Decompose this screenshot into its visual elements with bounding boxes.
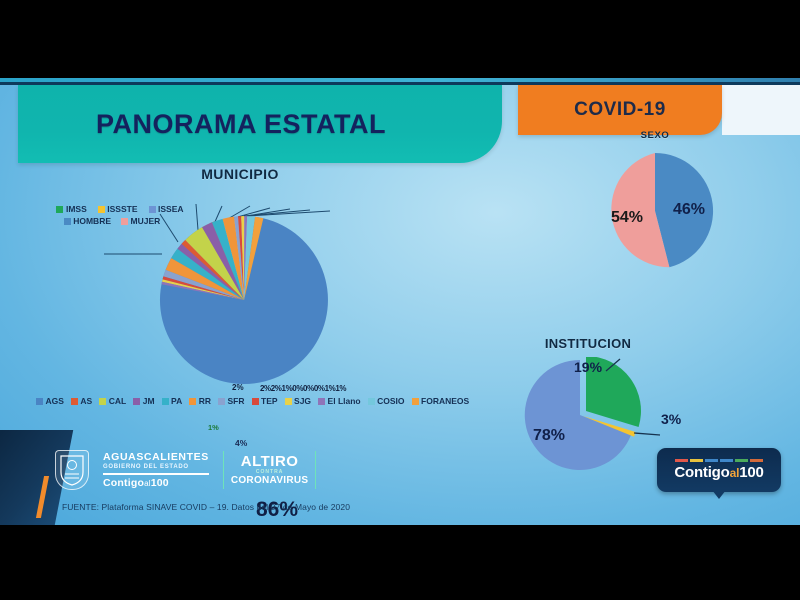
municipio-legend-swatch-icon — [71, 398, 78, 405]
municipio-legend-item[interactable]: El Llano — [318, 396, 361, 406]
institucion-legend-item[interactable]: IMSS — [56, 204, 86, 214]
municipio-legend-label: RR — [199, 396, 211, 406]
sexo-pie-wrap: 46% 54% — [560, 149, 750, 279]
municipio-legend-label: PA — [171, 396, 182, 406]
page-title: PANORAMA ESTATAL — [96, 109, 386, 140]
sexo-legend: HOMBREMUJER — [32, 216, 192, 226]
municipio-label-1pct: 1% — [208, 423, 219, 432]
institucion-pie-svg — [508, 357, 668, 477]
badge-text: Contigoal100 — [674, 464, 763, 481]
sexo-legend-swatch-icon — [64, 218, 71, 225]
badge-100: 100 — [739, 464, 763, 481]
screenshot-frame: PANORAMA ESTATAL COVID-19 MUNICIPIO — [0, 0, 800, 600]
municipio-legend-label: AGS — [46, 396, 64, 406]
municipio-legend-swatch-icon — [99, 398, 106, 405]
municipio-title: MUNICIPIO — [30, 166, 450, 182]
municipio-pie-svg — [30, 182, 450, 397]
institucion-label-imss-pct: 19% — [574, 359, 602, 375]
municipio-legend-item[interactable]: RR — [189, 396, 211, 406]
institucion-legend-swatch-icon — [98, 206, 105, 213]
sexo-legend-label: HOMBRE — [73, 216, 111, 226]
badge-tail — [712, 490, 726, 499]
chart-sexo: SEXO 46% 54% — [560, 130, 750, 279]
municipio-legend-swatch-icon — [189, 398, 196, 405]
municipio-legend-swatch-icon — [368, 398, 375, 405]
footer-logos: AGUASCALIENTES GOBIERNO DEL ESTADO Conti… — [55, 450, 316, 490]
municipio-legend-label: JM — [143, 396, 155, 406]
badge-bar-blue2 — [720, 459, 733, 462]
municipio-legend-item[interactable]: PA — [162, 396, 183, 406]
municipio-legend-label: AS — [80, 396, 92, 406]
institucion-title: INSTITUCION — [478, 336, 698, 351]
sexo-legend-swatch-icon — [121, 218, 128, 225]
altiro-logo: ALTIRO CONTRA CORONAVIRUS — [223, 451, 317, 489]
municipio-legend-item[interactable]: CAL — [99, 396, 126, 406]
gov-logo-al: al — [144, 479, 151, 488]
covid-badge-panel: COVID-19 — [518, 85, 722, 135]
municipio-legend-swatch-icon — [36, 398, 43, 405]
municipio-legend-item[interactable]: COSIO — [368, 396, 405, 406]
sexo-legend-item[interactable]: MUJER — [121, 216, 160, 226]
gov-logo-100: 100 — [151, 477, 169, 489]
sexo-title: SEXO — [560, 130, 750, 141]
gov-logo-line3: Contigoal100 — [103, 477, 209, 489]
municipio-label-row: 2%2%1%0%0%0%1%1% — [260, 384, 346, 393]
shield-glyph — [59, 454, 85, 486]
sexo-label-mujer-pct: 54% — [611, 209, 643, 227]
municipio-legend-item[interactable]: AGS — [36, 396, 64, 406]
contigo-al-100-badge: Contigoal100 — [657, 448, 781, 492]
badge-color-bars — [675, 459, 763, 462]
badge-al: al — [730, 466, 740, 480]
municipio-legend-label: COSIO — [377, 396, 404, 406]
municipio-legend-swatch-icon — [162, 398, 169, 405]
altiro-line3: CORONAVIRUS — [231, 475, 309, 486]
municipio-legend-item[interactable]: FORANEOS — [412, 396, 470, 406]
header-white-sliver — [722, 85, 800, 135]
municipio-legend-item[interactable]: AS — [71, 396, 92, 406]
badge-bar-orange — [750, 459, 763, 462]
badge-bar-red — [675, 459, 688, 462]
municipio-legend-label: CAL — [109, 396, 126, 406]
title-panel: PANORAMA ESTATAL — [18, 85, 502, 163]
institucion-legend: IMSSISSSTEISSEA — [20, 204, 220, 214]
gov-logo-rule — [103, 473, 209, 474]
badge-bar-yellow — [690, 459, 703, 462]
municipio-legend-swatch-icon — [412, 398, 419, 405]
covid-label: COVID-19 — [574, 99, 666, 121]
sexo-pie-svg — [587, 149, 727, 279]
municipio-legend-swatch-icon — [133, 398, 140, 405]
badge-contigo: Contigo — [674, 464, 729, 481]
slide-canvas: PANORAMA ESTATAL COVID-19 MUNICIPIO — [0, 78, 800, 525]
sexo-legend-label: MUJER — [131, 216, 161, 226]
municipio-legend-label: TEP — [261, 396, 278, 406]
municipio-legend-item[interactable]: TEP — [252, 396, 278, 406]
municipio-legend-label: SJG — [294, 396, 311, 406]
gov-logo-line1: AGUASCALIENTES — [103, 451, 209, 463]
institucion-legend-label: IMSS — [66, 204, 87, 214]
institucion-legend-swatch-icon — [56, 206, 63, 213]
source-note: FUENTE: Plataforma SINAVE COVID – 19. Da… — [62, 502, 350, 512]
municipio-label-2pct: 2% — [232, 383, 244, 392]
municipio-legend-item[interactable]: SJG — [285, 396, 312, 406]
municipio-legend-label: El Llano — [328, 396, 361, 406]
altiro-line1: ALTIRO — [241, 454, 299, 469]
municipio-label-4pct: 4% — [235, 438, 247, 448]
institucion-legend-label: ISSSTE — [107, 204, 137, 214]
municipio-legend-label: SFR — [228, 396, 245, 406]
municipio-legend-item[interactable]: JM — [133, 396, 154, 406]
gov-logo-contigo: Contigo — [103, 477, 144, 489]
municipio-legend-item[interactable]: SFR — [218, 396, 245, 406]
gov-logo-line2: GOBIERNO DEL ESTADO — [103, 464, 209, 470]
municipio-legend: AGSASCALJMPARRSFRTEPSJGEl LlanoCOSIOFORA… — [36, 396, 456, 406]
municipio-legend-swatch-icon — [318, 398, 325, 405]
municipio-pie-wrap: 2% 2%2%1%0%0%0%1%1% 1% 4% 86% — [30, 182, 450, 397]
institucion-legend-item[interactable]: ISSSTE — [98, 204, 138, 214]
badge-bar-blue — [705, 459, 718, 462]
sexo-legend-item[interactable]: HOMBRE — [64, 216, 111, 226]
municipio-legend-swatch-icon — [252, 398, 259, 405]
aguascalientes-shield-icon — [55, 450, 89, 490]
gov-logo-text: AGUASCALIENTES GOBIERNO DEL ESTADO Conti… — [103, 451, 209, 488]
municipio-legend-swatch-icon — [285, 398, 292, 405]
institucion-legend-item[interactable]: ISSEA — [149, 204, 184, 214]
chart-municipio: MUNICIPIO — [30, 166, 450, 397]
institucion-label-issste-pct: 3% — [661, 411, 681, 427]
municipio-legend-swatch-icon — [218, 398, 225, 405]
institucion-label-issea-pct: 78% — [533, 427, 565, 445]
institucion-legend-swatch-icon — [149, 206, 156, 213]
institucion-legend-label: ISSEA — [158, 204, 184, 214]
sexo-label-hombre-pct: 46% — [673, 201, 705, 219]
badge-bar-green — [735, 459, 748, 462]
municipio-legend-label: FORANEOS — [421, 396, 469, 406]
